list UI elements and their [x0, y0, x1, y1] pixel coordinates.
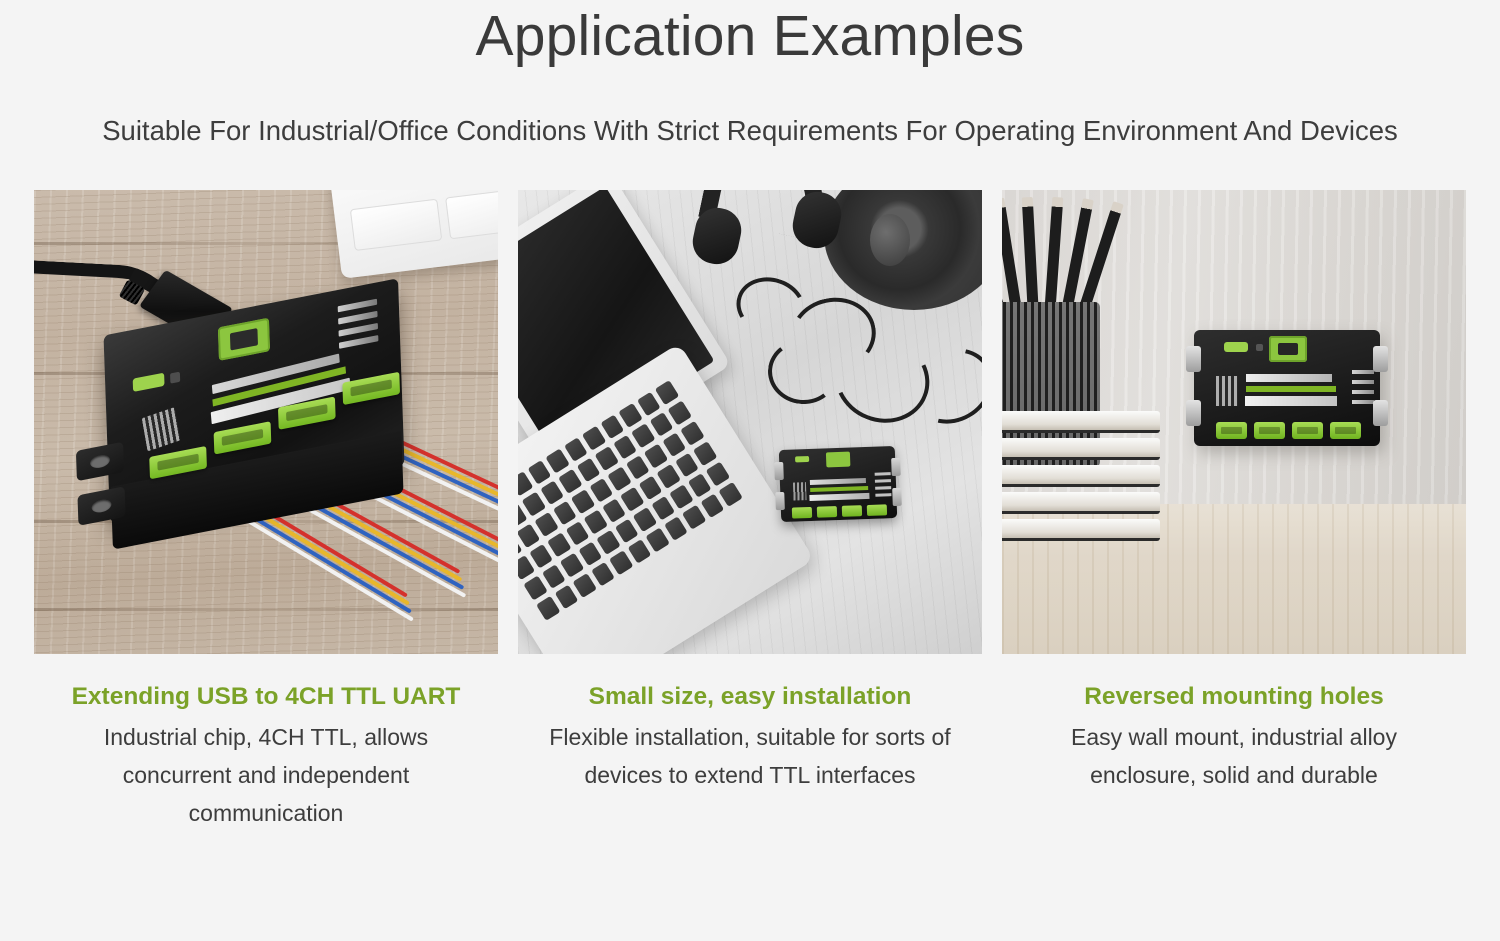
- usb-to-4ch-ttl-device: [779, 446, 897, 522]
- power-led: [1224, 342, 1248, 352]
- brand-accent-bar: [1246, 386, 1336, 392]
- page-title: Application Examples: [0, 0, 1500, 65]
- caption-2: Small size, easy installation Flexible i…: [518, 654, 982, 794]
- application-examples-grid: Extending USB to 4CH TTL UART Industrial…: [0, 190, 1500, 832]
- power-led: [795, 456, 809, 462]
- mounting-tab: [775, 492, 785, 510]
- terminal-block: [1216, 422, 1247, 439]
- status-led: [1256, 344, 1263, 351]
- channel-led-labels: [338, 296, 391, 359]
- usb-port: [826, 452, 851, 468]
- product-photo-wall-mounted: [1002, 190, 1466, 654]
- example-card-3: Reversed mounting holes Easy wall mount,…: [1002, 190, 1466, 832]
- mounting-tab: [891, 458, 901, 476]
- mounting-tab: [1373, 400, 1388, 426]
- terminal-block: [867, 504, 887, 516]
- headphones: [688, 190, 848, 272]
- terminal-block: [1292, 422, 1323, 439]
- caption-body: Industrial chip, 4CH TTL, allows concurr…: [34, 718, 498, 832]
- product-photo-desk-wiring: [34, 190, 498, 654]
- terminal-block: [792, 507, 812, 519]
- caption-title: Reversed mounting holes: [1002, 683, 1466, 712]
- brand-label: [810, 478, 866, 485]
- caption-body: Easy wall mount, industrial alloy enclos…: [1002, 718, 1466, 794]
- terminal-block: [817, 506, 837, 518]
- usb-port: [1269, 336, 1307, 362]
- caption-1: Extending USB to 4CH TTL UART Industrial…: [34, 654, 498, 832]
- caption-title: Extending USB to 4CH TTL UART: [34, 683, 498, 712]
- channel-led-labels: [1352, 370, 1374, 410]
- brand-accent-bar: [810, 486, 868, 492]
- channel-led-labels: [875, 472, 892, 501]
- mounting-tab: [1373, 346, 1388, 372]
- product-photo-desk-flatlay: [518, 190, 982, 654]
- page-subtitle: Suitable For Industrial/Office Condition…: [0, 103, 1500, 158]
- status-led: [170, 372, 180, 384]
- mounting-tab: [892, 488, 902, 506]
- example-card-1: Extending USB to 4CH TTL UART Industrial…: [34, 190, 498, 832]
- caption-3: Reversed mounting holes Easy wall mount,…: [1002, 654, 1466, 794]
- terminal-block: [1330, 422, 1361, 439]
- mounting-tab: [774, 462, 784, 480]
- terminal-block: [842, 505, 862, 517]
- terminal-block: [1254, 422, 1285, 439]
- chip-marking: [1216, 376, 1238, 406]
- mounting-tab: [1186, 400, 1201, 426]
- example-card-2: Small size, easy installation Flexible i…: [518, 190, 982, 832]
- caption-title: Small size, easy installation: [518, 683, 982, 712]
- model-label: [809, 493, 869, 501]
- model-label: [1245, 396, 1337, 406]
- mounting-tab: [1186, 346, 1201, 372]
- caption-body: Flexible installation, suitable for sort…: [518, 718, 982, 794]
- pencils: [1002, 190, 1107, 317]
- chip-marking: [793, 482, 807, 500]
- brand-label: [1246, 374, 1332, 382]
- book-stack: [1002, 411, 1160, 546]
- usb-to-4ch-ttl-device: [1194, 330, 1380, 446]
